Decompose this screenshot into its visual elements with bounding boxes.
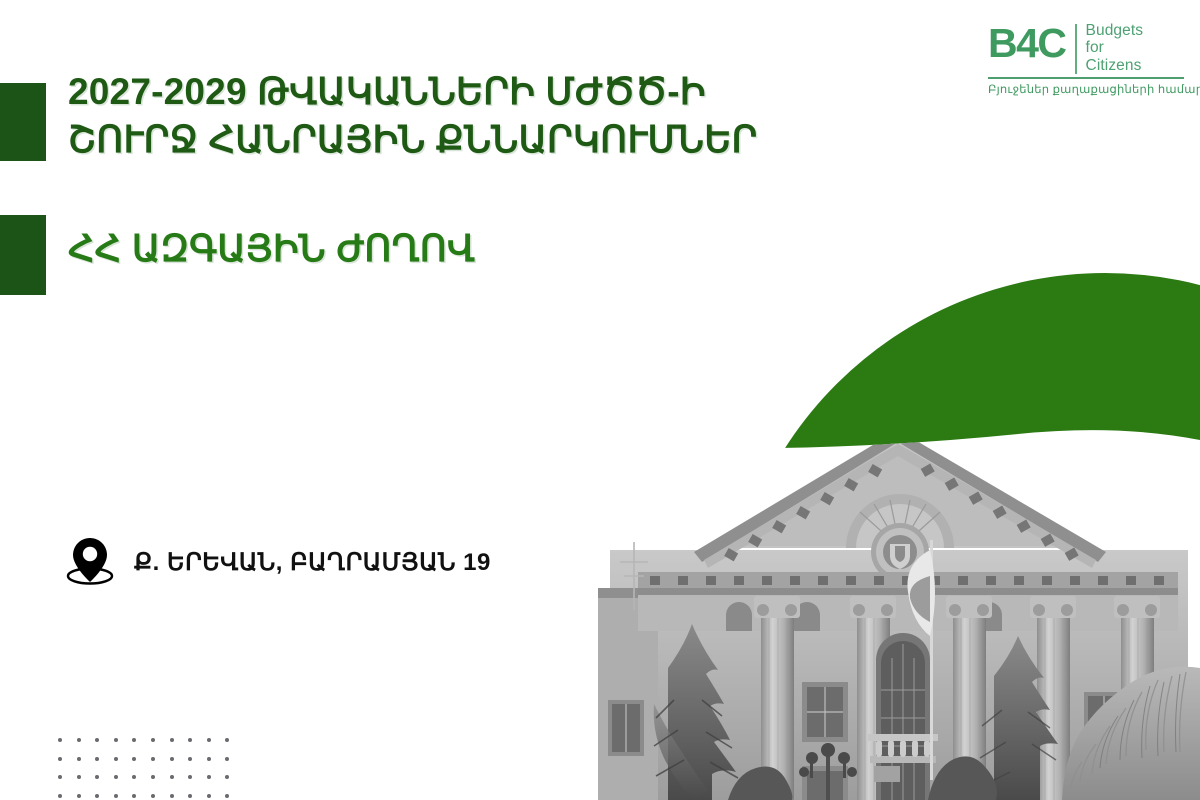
grid-dot: [170, 757, 174, 761]
grid-dot: [77, 738, 81, 742]
grid-dot: [58, 738, 62, 742]
grid-dot: [114, 775, 118, 779]
banner-canvas: 2027-2029 ԹՎԱԿԱՆՆԵՐԻ ՄԺԾԾ-Ի ՇՈՒՐՋ ՀԱՆՐԱՅ…: [0, 0, 1200, 800]
grid-dot: [58, 757, 62, 761]
grid-dot: [77, 775, 81, 779]
grid-dot: [58, 775, 62, 779]
accent-bar-top: [0, 83, 46, 161]
grid-dot: [151, 794, 155, 798]
grid-dot: [170, 794, 174, 798]
address-row: Ք. ԵՐԵՎԱՆ, ԲԱՂՐԱՄՅԱՆ 19: [64, 534, 491, 591]
grid-dot: [58, 794, 62, 798]
headline-block: 2027-2029 ԹՎԱԿԱՆՆԵՐԻ ՄԺԾԾ-Ի ՇՈՒՐՋ ՀԱՆՐԱՅ…: [68, 68, 788, 164]
logo-tagline: Բյուջեներ քաղաքացիների համար: [988, 82, 1188, 96]
grid-dot: [151, 738, 155, 742]
grid-dot: [207, 775, 211, 779]
grid-dot: [132, 757, 136, 761]
grid-dot: [114, 738, 118, 742]
logo-word-budgets: Budgets: [1086, 22, 1144, 39]
grid-dot: [188, 794, 192, 798]
logo-word-for: for: [1086, 39, 1104, 56]
dot-grid-decoration: [58, 738, 244, 800]
grid-dot: [95, 757, 99, 761]
grid-dot: [77, 757, 81, 761]
parliament-building-photo: [598, 400, 1200, 800]
page-subtitle: ՀՀ ԱԶԳԱՅԻՆ ԺՈՂՈՎ: [68, 226, 768, 272]
grid-dot: [225, 775, 229, 779]
grid-dot: [95, 775, 99, 779]
grid-dot: [95, 738, 99, 742]
grid-dot: [77, 794, 81, 798]
grid-dot: [132, 794, 136, 798]
grid-dot: [188, 738, 192, 742]
grid-dot: [132, 775, 136, 779]
grid-dot: [114, 757, 118, 761]
address-text: Ք. ԵՐԵՎԱՆ, ԲԱՂՐԱՄՅԱՆ 19: [134, 548, 491, 577]
logo-word-citizens: Citizens: [1086, 57, 1142, 74]
grid-dot: [170, 775, 174, 779]
grid-dot: [225, 794, 229, 798]
location-pin-icon: [64, 534, 116, 591]
grid-dot: [151, 775, 155, 779]
grid-dot: [207, 794, 211, 798]
grid-dot: [188, 757, 192, 761]
grid-dot: [188, 775, 192, 779]
grid-dot: [225, 757, 229, 761]
logo-wordmark: B4C: [988, 22, 1066, 63]
grid-dot: [95, 794, 99, 798]
grid-dot: [170, 738, 174, 742]
grid-dot: [132, 738, 136, 742]
grid-dot: [151, 757, 155, 761]
grid-dot: [207, 757, 211, 761]
grid-dot: [225, 738, 229, 742]
grid-dot: [207, 738, 211, 742]
logo-main-row: B4C Budgets for Citizens: [988, 22, 1188, 74]
logo-divider: [1075, 24, 1077, 74]
b4c-logo[interactable]: B4C Budgets for Citizens Բյուջեներ քաղաք…: [988, 22, 1188, 96]
subtitle-block: ՀՀ ԱԶԳԱՅԻՆ ԺՈՂՈՎ: [68, 226, 768, 272]
grid-dot: [114, 794, 118, 798]
logo-underline-rule: [988, 77, 1184, 79]
logo-words: Budgets for Citizens: [1086, 22, 1144, 74]
page-title: 2027-2029 ԹՎԱԿԱՆՆԵՐԻ ՄԺԾԾ-Ի ՇՈՒՐՋ ՀԱՆՐԱՅ…: [68, 68, 788, 164]
accent-bar-bottom: [0, 215, 46, 295]
